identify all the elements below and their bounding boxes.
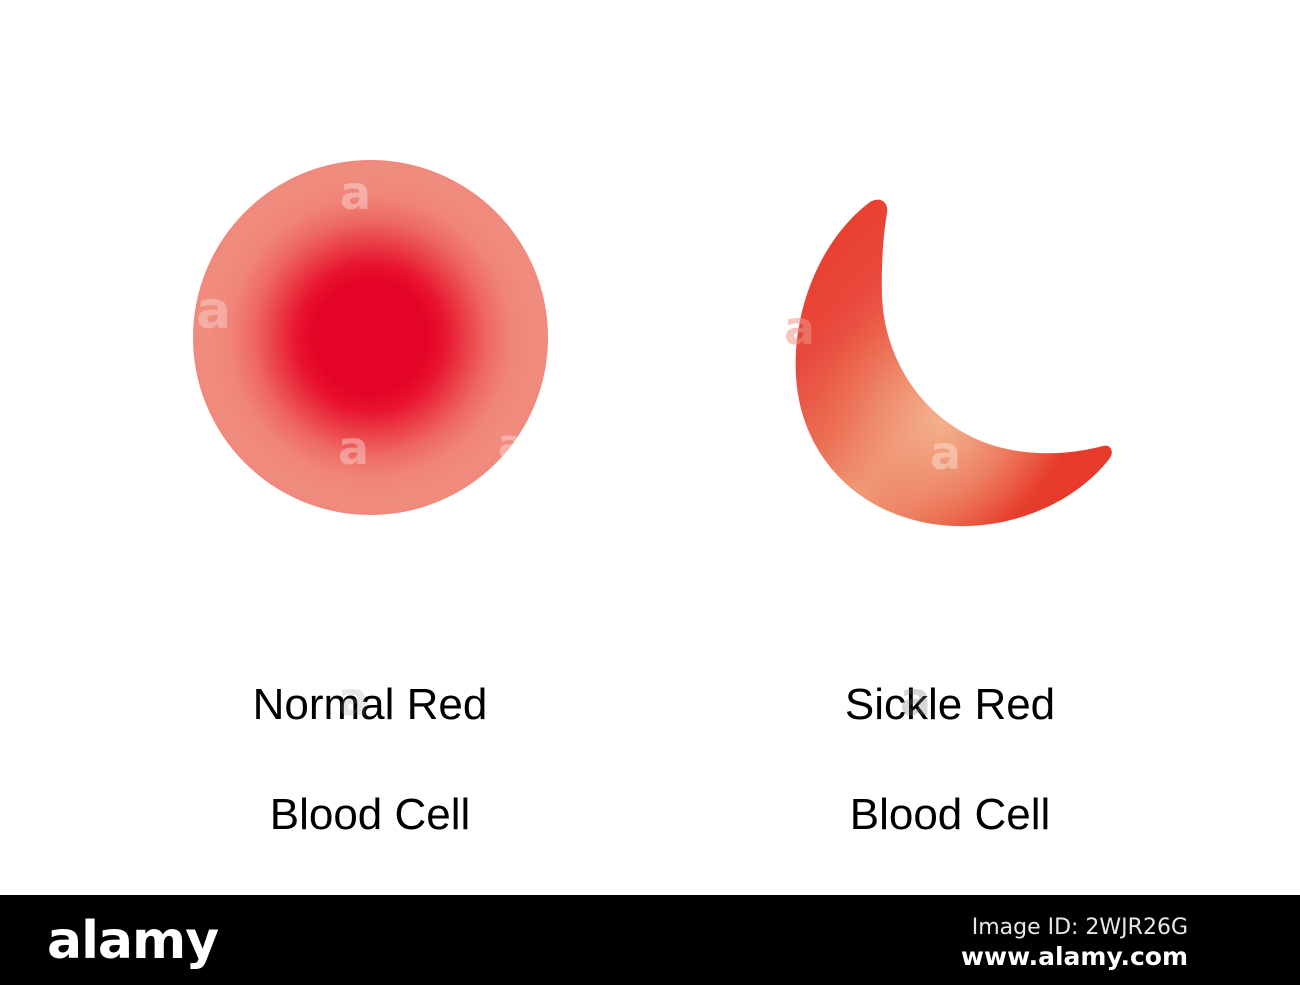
label-sickle-line-2: Blood Cell	[710, 787, 1190, 842]
footer-right-block: Image ID: 2WJR26G www.alamy.com	[961, 914, 1188, 972]
image-id-text: Image ID: 2WJR26G	[961, 914, 1188, 942]
label-sickle-red-blood-cell: Sickle Red Blood Cell	[710, 622, 1190, 897]
crescent-icon	[770, 180, 1130, 540]
alamy-logo[interactable]: alamy	[47, 912, 218, 970]
figure-area: a a a a	[0, 0, 1300, 895]
sickle-red-blood-cell-shape	[770, 180, 1130, 540]
label-sickle-line-1: Sickle Red	[710, 677, 1190, 732]
crescent-highlight	[796, 200, 1112, 526]
alamy-url-link[interactable]: www.alamy.com	[961, 942, 1188, 972]
normal-red-blood-cell-shape	[193, 160, 548, 515]
label-normal-line-2: Blood Cell	[130, 787, 610, 842]
label-normal-red-blood-cell: Normal Red Blood Cell	[130, 622, 610, 897]
screenshot-root: a a a a	[0, 0, 1300, 985]
attribution-bar: alamy Image ID: 2WJR26G www.alamy.com	[0, 895, 1300, 985]
label-normal-line-1: Normal Red	[130, 677, 610, 732]
